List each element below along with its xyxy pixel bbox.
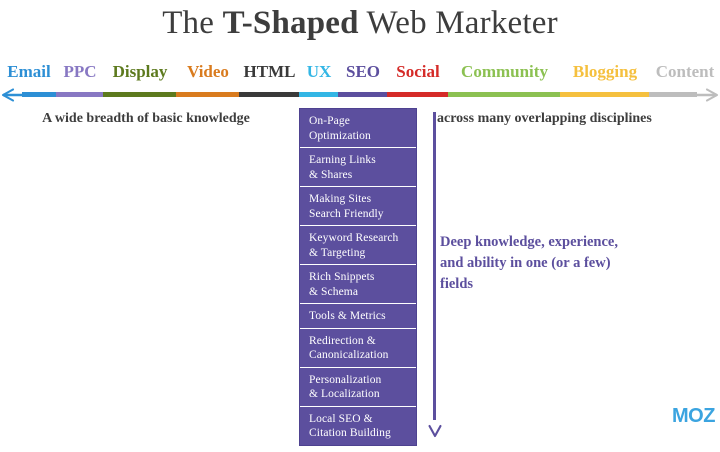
stem-item: Redirection &Canonicalization [300, 329, 416, 368]
stem-item-line-2: & Shares [309, 168, 408, 183]
title-part-1: The [162, 5, 222, 41]
discipline-label-seo: SEO [339, 60, 387, 84]
stem-item-line-2: & Schema [309, 285, 408, 300]
spectrum-segment-community [448, 92, 560, 97]
stem-item-line-2: Optimization [309, 129, 408, 144]
title-part-3: Web Marketer [359, 5, 558, 41]
stem-item: On-PageOptimization [300, 109, 416, 148]
discipline-label-content: Content [650, 60, 720, 84]
stem-item-line-1: Personalization [309, 373, 408, 388]
title-part-emphasis: T-Shaped [223, 5, 359, 41]
stem-item: Rich Snippets& Schema [300, 265, 416, 304]
stem-item-line-1: Tools & Metrics [309, 309, 408, 324]
stem-item-line-2: Canonicalization [309, 348, 408, 363]
spectrum-segment-html [239, 92, 299, 97]
caption-deep-line-1: Deep knowledge, experience, [440, 232, 690, 253]
t-stem-column: On-PageOptimizationEarning Links& Shares… [299, 108, 417, 446]
discipline-label-email: Email [2, 60, 56, 84]
spectrum-segment-content [649, 92, 697, 97]
stem-item-line-2: Citation Building [309, 426, 408, 441]
spectrum-segment-social [387, 92, 448, 97]
discipline-label-video: Video [177, 60, 239, 84]
moz-logo: MOZ [672, 405, 715, 427]
discipline-label-social: Social [388, 60, 448, 84]
spectrum-segment-display [103, 92, 176, 97]
arrow-left-icon [1, 88, 23, 102]
caption-deep-line-3: fields [440, 274, 690, 295]
spectrum-segment-ux [299, 92, 338, 97]
stem-item-line-2: & Localization [309, 387, 408, 402]
spectrum-segment-ppc [56, 92, 103, 97]
caption-deep-knowledge: Deep knowledge, experience, and ability … [440, 232, 690, 295]
arrow-right-icon [697, 88, 719, 102]
caption-breadth: A wide breadth of basic knowledge [0, 109, 292, 128]
stem-item-line-1: On-Page [309, 114, 408, 129]
spectrum-segment-video [176, 92, 239, 97]
stem-item-line-1: Rich Snippets [309, 270, 408, 285]
spectrum-segment-blogging [560, 92, 649, 97]
stem-item-line-1: Local SEO & [309, 412, 408, 427]
discipline-label-ux: UX [300, 60, 338, 84]
stem-item-line-1: Keyword Research [309, 231, 408, 246]
depth-arrow-shaft [433, 112, 436, 420]
stem-item: Earning Links& Shares [300, 148, 416, 187]
stem-item-line-1: Redirection & [309, 334, 408, 349]
stem-item: Tools & Metrics [300, 304, 416, 329]
discipline-label-display: Display [104, 60, 176, 84]
discipline-label-ppc: PPC [57, 60, 103, 84]
stem-item: Personalization& Localization [300, 368, 416, 407]
stem-item-line-2: Search Friendly [309, 207, 408, 222]
page-title: The T-Shaped Web Marketer [0, 2, 720, 44]
caption-deep-line-2: and ability in one (or a few) [440, 253, 690, 274]
discipline-label-blogging: Blogging [561, 60, 649, 84]
spectrum-segment-seo [338, 92, 387, 97]
stem-item: Local SEO &Citation Building [300, 407, 416, 445]
discipline-label-html: HTML [240, 60, 299, 84]
discipline-label-community: Community [449, 60, 560, 84]
discipline-label-row: EmailPPCDisplayVideoHTMLUXSEOSocialCommu… [0, 60, 720, 86]
stem-item: Making SitesSearch Friendly [300, 187, 416, 226]
arrow-down-icon [428, 414, 442, 438]
spectrum-segment-email [22, 92, 56, 97]
stem-item-line-1: Making Sites [309, 192, 408, 207]
discipline-spectrum-bar [0, 88, 720, 102]
stem-item-line-1: Earning Links [309, 153, 408, 168]
stem-item: Keyword Research& Targeting [300, 226, 416, 265]
caption-disciplines: across many overlapping disciplines [437, 109, 720, 128]
stem-item-line-2: & Targeting [309, 246, 408, 261]
